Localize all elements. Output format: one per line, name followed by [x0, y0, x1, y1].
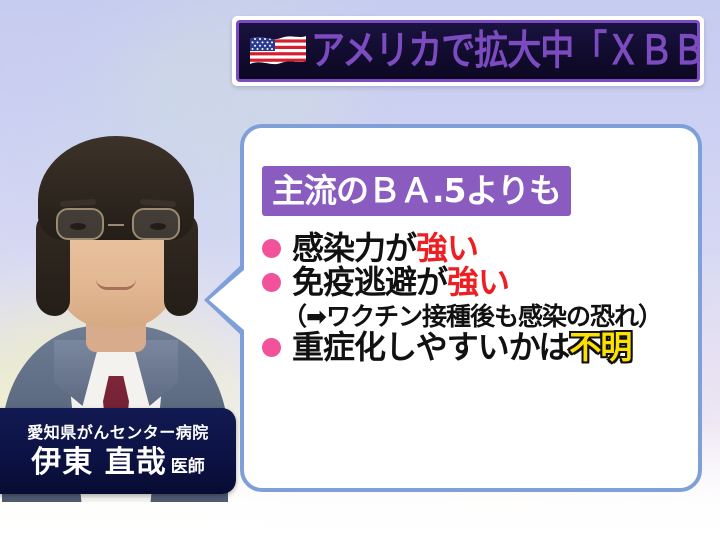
- glasses-bridge: [108, 224, 124, 226]
- bullet-prefix: 重症化しやすいかは: [292, 328, 569, 366]
- bullet-row: 感染力が強い: [262, 232, 702, 266]
- presenter-mouth: [96, 279, 136, 290]
- title-banner: アメリカで拡大中「ＸＢＢ.1.5」: [232, 16, 704, 86]
- bullet-prefix: 感染力が: [292, 229, 416, 267]
- bullet-note: （➡ワクチン接種後も感染の恐れ）: [282, 303, 702, 331]
- presenter-role: 医師: [171, 459, 205, 476]
- presenter-affiliation: 愛知県がんセンター病院: [27, 425, 209, 441]
- banner-title-text: アメリカで拡大中「ＸＢＢ.1.5」: [311, 31, 700, 71]
- bullet-row: 免疫逃避が強い: [262, 266, 702, 300]
- bullet-list: 感染力が強い 免疫逃避が強い （➡ワクチン接種後も感染の恐れ） 重症化しやすいか…: [262, 232, 702, 364]
- bullet-dot-icon: [262, 239, 281, 258]
- bullet-text: 重症化しやすいかは不明: [292, 331, 631, 365]
- presenter-name: 伊東 直哉: [31, 448, 166, 478]
- bullet-text: 免疫逃避が強い: [292, 266, 509, 300]
- title-banner-inner: アメリカで拡大中「ＸＢＢ.1.5」: [236, 20, 700, 82]
- news-graphic-stage: 愛知県がんセンター病院 伊東 直哉 医師: [0, 0, 720, 540]
- bubble-headline: 主流のＢＡ.5よりも: [262, 166, 571, 216]
- us-flag-icon: [249, 33, 307, 69]
- presenter-eye-left: [70, 223, 86, 230]
- list-item: 感染力が強い: [262, 232, 702, 266]
- bullet-dot-icon: [262, 273, 281, 292]
- presenter-name-row: 伊東 直哉 医師: [31, 448, 204, 478]
- list-item: 重症化しやすいかは不明: [262, 331, 702, 365]
- presenter-eye-right: [150, 223, 166, 230]
- bullet-emphasis: 強い: [447, 263, 509, 301]
- bullet-dot-icon: [262, 338, 281, 357]
- speech-bubble-content: 主流のＢＡ.5よりも 感染力が強い 免疫逃避が強い （➡ワクチン接種後も感染の恐…: [240, 124, 702, 492]
- bullet-row: 重症化しやすいかは不明: [262, 331, 702, 365]
- bullet-prefix: 免疫逃避が: [292, 263, 447, 301]
- bullet-emphasis: 不明: [569, 328, 631, 366]
- presenter-nameplate: 愛知県がんセンター病院 伊東 直哉 医師: [0, 408, 236, 494]
- list-item: 免疫逃避が強い （➡ワクチン接種後も感染の恐れ）: [262, 266, 702, 331]
- bullet-emphasis: 強い: [416, 229, 478, 267]
- bullet-text: 感染力が強い: [292, 232, 478, 266]
